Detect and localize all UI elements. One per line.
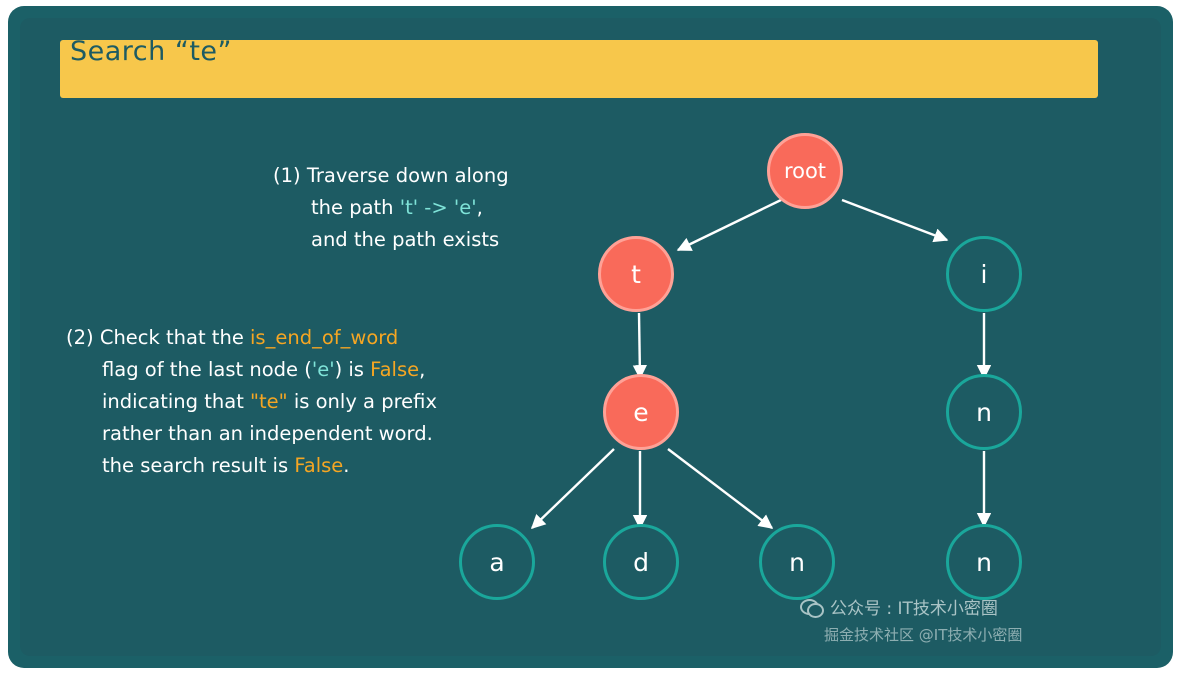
note-1-line3: and the path exists [311, 228, 499, 251]
trie-node-n1: n [946, 374, 1022, 450]
trie-node-label: n [976, 548, 992, 577]
trie-node-label: d [633, 548, 649, 577]
note-1-line2-c: , [477, 196, 483, 219]
note-step-1: (1) Traverse down along the path 't' -> … [273, 160, 509, 256]
trie-node-d: d [603, 524, 679, 600]
note-2-flag-name: is_end_of_word [250, 326, 398, 349]
trie-node-i: i [946, 236, 1022, 312]
diagram-canvas: Search “te” (1) Traverse down along the … [0, 0, 1181, 674]
trie-node-label: e [633, 398, 648, 427]
note-2-line2-a: flag of the last node ( [102, 358, 312, 381]
note-2-line4: rather than an independent word. [102, 422, 433, 445]
note-2-code-e: 'e' [312, 358, 335, 381]
note-2-false-1: False [370, 358, 419, 381]
trie-node-label: a [489, 548, 504, 577]
page-title: Search “te” [70, 36, 232, 67]
note-2-line3-b: is only a prefix [288, 390, 437, 413]
trie-node-t: t [598, 236, 674, 312]
note-1-marker: (1) [273, 164, 301, 187]
note-2-line5-a: the search result is [102, 454, 294, 477]
trie-node-a: a [459, 524, 535, 600]
watermark-bottom: 掘金技术社区 @IT技术小密圈 [824, 624, 1022, 645]
note-2-line2-c: , [419, 358, 425, 381]
trie-node-n2: n [759, 524, 835, 600]
note-1-line1: Traverse down along [307, 164, 509, 187]
note-1-code-e: 'e' [454, 196, 477, 219]
trie-node-e: e [603, 374, 679, 450]
trie-node-label: i [981, 260, 988, 289]
note-1-arrow: -> [418, 196, 454, 219]
trie-node-root: root [767, 133, 843, 209]
watermark-bottom-text: 掘金技术社区 @IT技术小密圈 [824, 624, 1022, 645]
watermark-top-text: 公众号 : IT技术小密圈 [830, 594, 998, 619]
note-2-line5-b: . [343, 454, 349, 477]
watermark-top: 公众号 : IT技术小密圈 [800, 594, 998, 619]
trie-node-n3: n [946, 524, 1022, 600]
trie-node-label: root [784, 159, 826, 183]
note-1-code-t: 't' [400, 196, 418, 219]
note-2-line1-a: Check that the [100, 326, 250, 349]
note-2-line3-a: indicating that [102, 390, 250, 413]
note-step-2: (2) Check that the is_end_of_word flag o… [66, 322, 437, 482]
note-2-te-literal: "te" [250, 390, 288, 413]
trie-node-label: t [631, 260, 641, 289]
note-2-false-2: False [294, 454, 343, 477]
trie-node-label: n [976, 398, 992, 427]
note-2-marker: (2) [66, 326, 94, 349]
trie-node-label: n [789, 548, 805, 577]
note-1-line2-a: the path [311, 196, 400, 219]
note-2-line2-b: ) is [335, 358, 371, 381]
wechat-icon [800, 598, 822, 616]
